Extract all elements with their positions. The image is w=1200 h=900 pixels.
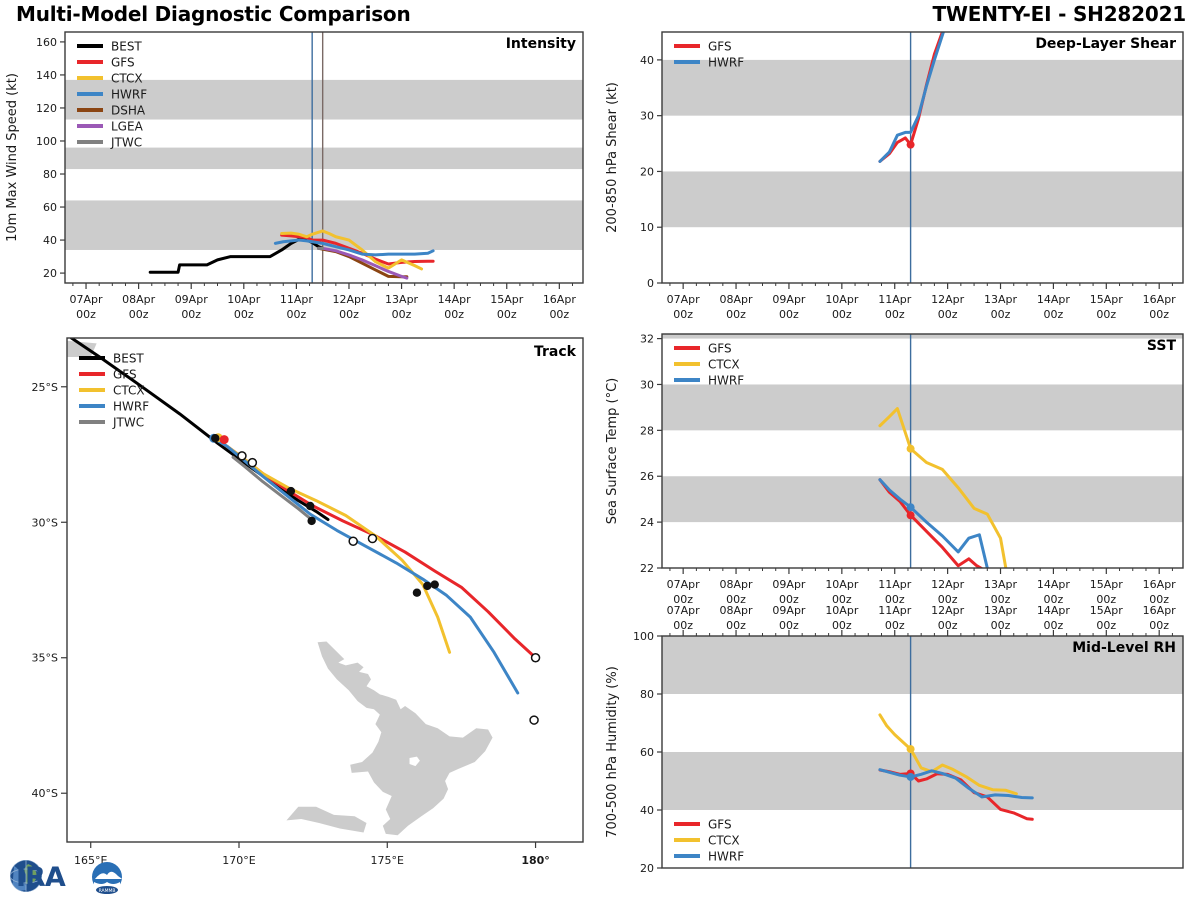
x-tick-label-hour: 00z (673, 308, 693, 321)
lat-tick-label: 35°S (32, 652, 58, 665)
legend-label-lgea: LGEA (111, 120, 144, 134)
y-tick-label: 100 (633, 630, 654, 643)
x-tick-label-date: 10Apr (825, 293, 859, 306)
x-tick-label-date: 13Apr (984, 604, 1018, 617)
track-marker-filled (431, 580, 439, 588)
panel-title: Deep-Layer Shear (1035, 36, 1176, 52)
legend-label-gfs: GFS (111, 56, 135, 70)
marker-hwrf (907, 503, 915, 511)
y-tick-label: 60 (43, 201, 57, 214)
x-tick-label-date: 16Apr (543, 293, 577, 306)
legend-label-ctcx: CTCX (111, 72, 143, 86)
x-tick-label-hour: 00z (832, 619, 852, 632)
track-marker-filled (307, 517, 315, 525)
panel-title: Intensity (506, 36, 576, 52)
y-tick-label: 60 (640, 746, 654, 759)
y-tick-label: 80 (43, 168, 57, 181)
track-panel: 25°S30°S35°S40°S165°E170°E175°E180°Track… (0, 330, 600, 890)
x-tick-label-date: 09Apr (772, 604, 806, 617)
svg-text:IRA: IRA (16, 862, 66, 893)
x-tick-label-date: 10Apr (825, 604, 859, 617)
x-tick-label-date: 16Apr (1143, 293, 1177, 306)
lon-tick-label: 175°E (371, 854, 404, 867)
track-marker-open (368, 535, 376, 543)
y-tick-label: 24 (640, 516, 654, 529)
legend-label-hwrf: HWRF (708, 374, 744, 388)
x-tick-label-hour: 00z (938, 619, 958, 632)
x-tick-label-date: 11Apr (878, 578, 912, 591)
legend-label-ctcx: CTCX (708, 834, 740, 848)
x-tick-label-date: 13Apr (385, 293, 419, 306)
marker-gfs (907, 511, 915, 519)
x-tick-label-date: 11Apr (878, 604, 912, 617)
x-tick-label-date: 09Apr (772, 293, 806, 306)
x-tick-label-hour: 00z (726, 308, 746, 321)
legend-label-best: BEST (113, 352, 144, 366)
x-tick-label-date: 12Apr (931, 293, 965, 306)
marker-ctcx (907, 745, 915, 753)
x-tick-label-date: 15Apr (1090, 293, 1124, 306)
y-tick-label: 160 (36, 36, 57, 49)
y-axis-label: 200-850 hPa Shear (kt) (605, 82, 620, 233)
y-tick-label: 10 (640, 221, 654, 234)
lon-tick-label: 170°E (222, 854, 255, 867)
shear-panel: 01020304007Apr00z08Apr00z09Apr00z10Apr00… (600, 22, 1200, 332)
x-tick-label-date: 11Apr (878, 293, 912, 306)
y-tick-label: 120 (36, 102, 57, 115)
panel-title: Track (534, 344, 577, 360)
track-marker-open (349, 537, 357, 545)
x-tick-label-date: 08Apr (720, 578, 754, 591)
y-tick-label: 28 (640, 424, 654, 437)
x-tick-label-date: 14Apr (1037, 604, 1071, 617)
x-tick-label-date: 12Apr (931, 604, 965, 617)
x-tick-label-hour: 00z (181, 308, 201, 321)
y-axis-label: 10m Max Wind Speed (kt) (5, 73, 20, 242)
x-tick-label-hour: 00z (938, 308, 958, 321)
x-tick-label-hour: 00z (779, 308, 799, 321)
x-tick-label-date: 07Apr (70, 293, 104, 306)
x-tick-label-hour: 00z (497, 308, 517, 321)
x-tick-label-date: 08Apr (720, 604, 754, 617)
x-tick-label-hour: 00z (234, 308, 254, 321)
x-tick-label-date: 07Apr (667, 604, 701, 617)
x-tick-label-hour: 00z (549, 308, 569, 321)
y-tick-label: 26 (640, 470, 654, 483)
legend-label-hwrf: HWRF (113, 400, 149, 414)
x-tick-label-hour: 00z (1044, 619, 1064, 632)
x-tick-label-date: 14Apr (438, 293, 472, 306)
y-axis-label: Sea Surface Temp (°C) (605, 378, 620, 525)
y-tick-label: 20 (640, 862, 654, 875)
y-tick-label: 30 (640, 110, 654, 123)
x-tick-label-date: 12Apr (931, 578, 965, 591)
legend-label-gfs: GFS (113, 368, 137, 382)
y-tick-label: 40 (43, 234, 57, 247)
x-tick-label-date: 10Apr (227, 293, 261, 306)
x-tick-label-date: 14Apr (1037, 293, 1071, 306)
track-marker-open (532, 654, 540, 662)
legend-label-jtwc: JTWC (112, 416, 144, 430)
lat-tick-label: 25°S (32, 381, 58, 394)
x-tick-label-date: 10Apr (825, 578, 859, 591)
legend-label-jtwc: JTWC (110, 136, 142, 150)
track-marker-filled (211, 434, 219, 442)
y-tick-label: 40 (640, 54, 654, 67)
y-tick-label: 32 (640, 333, 654, 346)
x-tick-label-date: 12Apr (332, 293, 366, 306)
x-tick-label-hour: 00z (1149, 619, 1169, 632)
x-tick-label-hour: 00z (673, 619, 693, 632)
marker-ctcx (907, 445, 915, 453)
rh-panel: 2040608010007Apr00z08Apr00z09Apr00z10Apr… (600, 600, 1200, 900)
x-tick-label-date: 09Apr (772, 578, 806, 591)
lon-tick-label: 180° (521, 854, 549, 867)
y-tick-label: 140 (36, 69, 57, 82)
y-tick-label: 22 (640, 562, 654, 575)
legend-label-ctcx: CTCX (113, 384, 145, 398)
marker-gfs (907, 141, 915, 149)
x-tick-label-hour: 00z (885, 308, 905, 321)
y-tick-label: 80 (640, 688, 654, 701)
track-marker-open (530, 716, 538, 724)
x-tick-label-date: 15Apr (490, 293, 524, 306)
x-tick-label-date: 15Apr (1090, 578, 1124, 591)
x-tick-label-hour: 00z (76, 308, 96, 321)
x-tick-label-hour: 00z (287, 308, 307, 321)
legend-label-gfs: GFS (708, 40, 732, 54)
x-tick-label-date: 07Apr (667, 293, 701, 306)
y-tick-label: 30 (640, 378, 654, 391)
x-tick-label-date: 08Apr (720, 293, 754, 306)
x-tick-label-hour: 00z (392, 308, 412, 321)
legend-label-hwrf: HWRF (708, 850, 744, 864)
svg-text:RAMMB: RAMMB (99, 888, 116, 894)
track-start-marker-gfs (220, 435, 229, 444)
y-tick-label: 0 (647, 277, 654, 290)
y-tick-label: 20 (43, 267, 57, 280)
x-tick-label-hour: 00z (779, 619, 799, 632)
panel-title: Mid-Level RH (1072, 640, 1176, 656)
x-tick-label-hour: 00z (832, 308, 852, 321)
x-tick-label-date: 07Apr (667, 578, 701, 591)
legend-label-best: BEST (111, 40, 142, 54)
x-tick-label-date: 16Apr (1143, 604, 1177, 617)
track-marker-filled (306, 502, 314, 510)
x-tick-label-hour: 00z (1096, 308, 1116, 321)
x-tick-label-hour: 00z (726, 619, 746, 632)
track-marker-open (248, 459, 256, 467)
panel-title: SST (1147, 338, 1177, 354)
track-marker-filled (423, 582, 431, 590)
lat-tick-label: 40°S (32, 787, 58, 800)
x-tick-label-hour: 00z (1044, 308, 1064, 321)
x-tick-label-hour: 00z (444, 308, 464, 321)
cira-logo: IRA RAMMB (4, 852, 128, 898)
legend-label-ctcx: CTCX (708, 358, 740, 372)
y-tick-label: 20 (640, 165, 654, 178)
legend-label-gfs: GFS (708, 818, 732, 832)
x-tick-label-hour: 00z (1096, 619, 1116, 632)
x-tick-label-date: 08Apr (122, 293, 156, 306)
sst-panel: 22242628303207Apr00z08Apr00z09Apr00z10Ap… (600, 326, 1200, 611)
legend-label-dsha: DSHA (111, 104, 146, 118)
x-tick-label-date: 11Apr (280, 293, 314, 306)
x-tick-label-date: 14Apr (1037, 578, 1071, 591)
track-marker-filled (413, 589, 421, 597)
x-tick-label-date: 15Apr (1090, 604, 1124, 617)
x-tick-label-hour: 00z (991, 619, 1011, 632)
x-tick-label-date: 13Apr (984, 578, 1018, 591)
legend-label-hwrf: HWRF (111, 88, 147, 102)
x-tick-label-hour: 00z (885, 619, 905, 632)
y-tick-label: 40 (640, 804, 654, 817)
marker-hwrf (907, 773, 915, 781)
legend-label-gfs: GFS (708, 342, 732, 356)
x-tick-label-hour: 00z (129, 308, 149, 321)
x-tick-label-date: 16Apr (1143, 578, 1177, 591)
x-tick-label-date: 09Apr (175, 293, 209, 306)
lat-tick-label: 30°S (32, 516, 58, 529)
x-tick-label-hour: 00z (991, 308, 1011, 321)
x-tick-label-hour: 00z (1149, 308, 1169, 321)
x-tick-label-hour: 00z (339, 308, 359, 321)
intensity-panel: 2040608010012014016007Apr00z08Apr00z09Ap… (0, 22, 600, 332)
y-tick-label: 100 (36, 135, 57, 148)
track-marker-filled (287, 487, 295, 495)
y-axis-label: 700-500 hPa Humidity (%) (605, 666, 620, 838)
track-marker-open (238, 452, 246, 460)
legend-label-hwrf: HWRF (708, 56, 744, 70)
x-tick-label-date: 13Apr (984, 293, 1018, 306)
